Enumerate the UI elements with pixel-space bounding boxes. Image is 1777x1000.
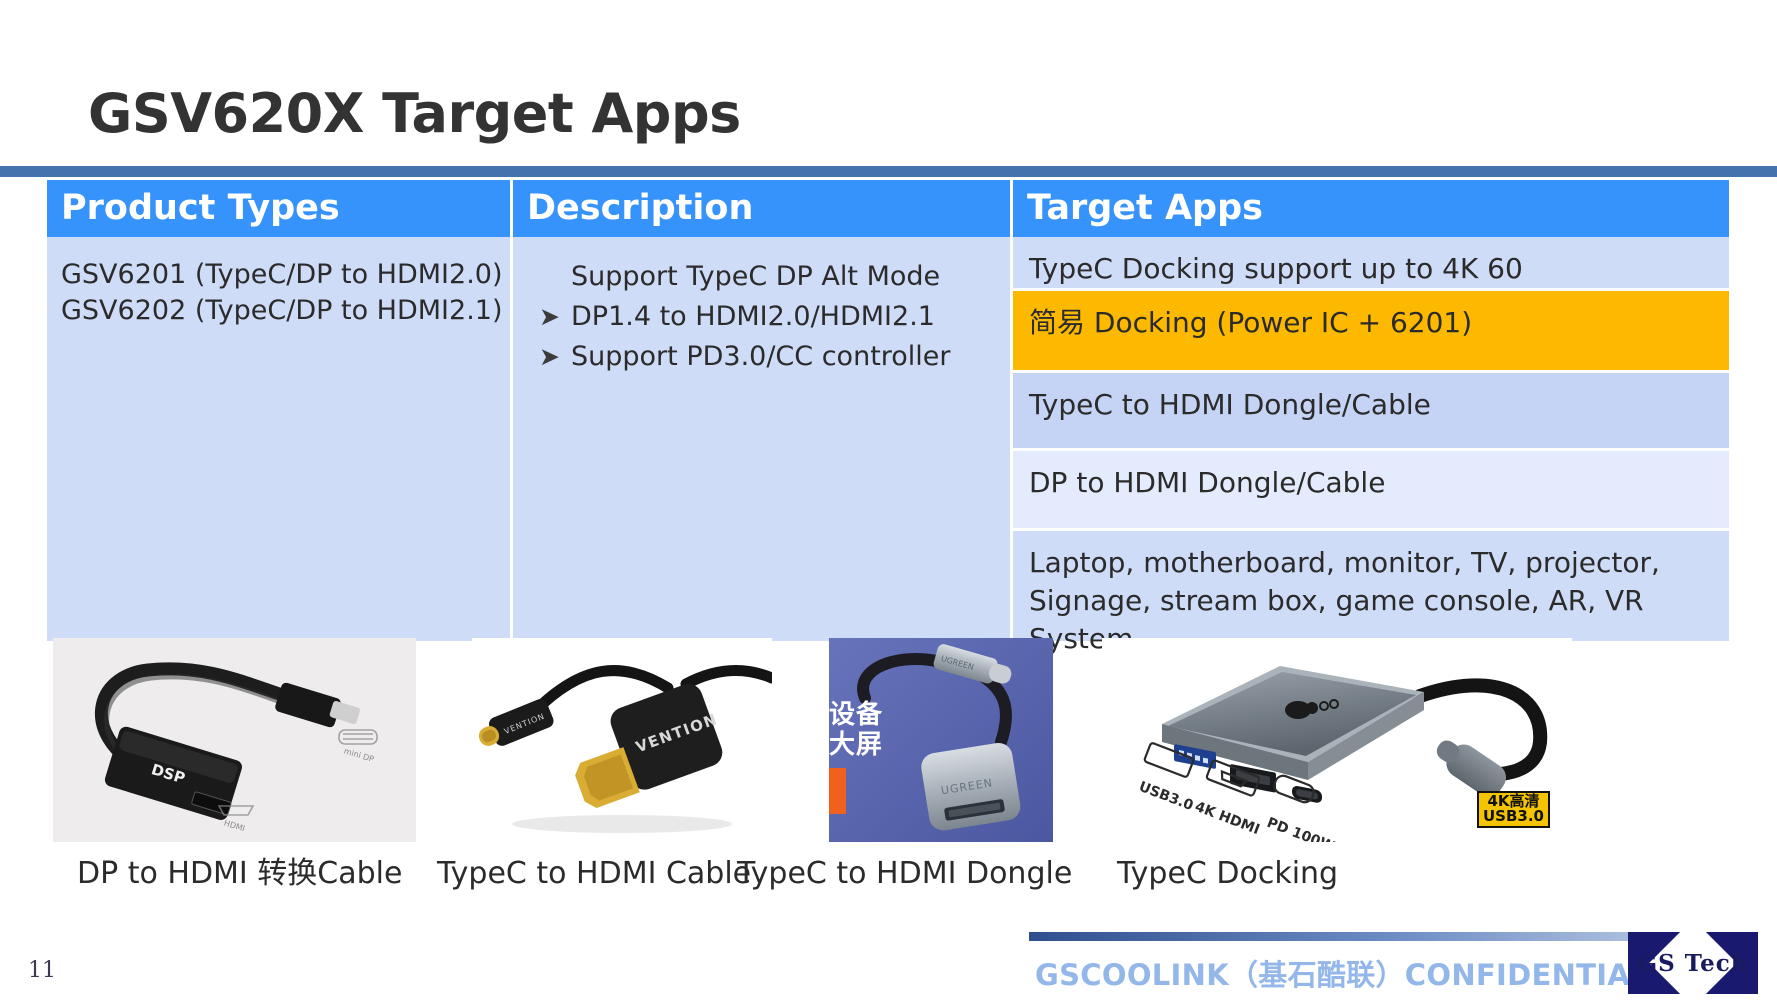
target-app-row: DP to HDMI Dongle/Cable [1013, 451, 1729, 531]
dongle-overlay-tag [829, 768, 846, 814]
arrow-bullet-icon: ➤ [533, 337, 571, 377]
logo-text: GS Tech [1628, 932, 1758, 994]
column-header-product-types: Product Types [47, 180, 513, 237]
target-app-row: TypeC to HDMI Dongle/Cable [1013, 373, 1729, 451]
description-item: ➤ Support PD3.0/CC controller [513, 337, 1010, 377]
column-header-target-apps: Target Apps [1013, 180, 1729, 237]
product-image-typec-docking: USB3.0 4K HDMI PD 100W 4K高清 USB3.0 [1102, 638, 1572, 842]
company-logo: GS Tech [1628, 932, 1758, 994]
description-item-label: Support PD3.0/CC controller [571, 337, 1010, 377]
target-apps-table: Product Types Description Target Apps GS… [47, 180, 1729, 641]
product-caption: TypeC to HDMI Dongle [737, 852, 1072, 896]
cell-target-apps: TypeC Docking support up to 4K 60 简易 Doc… [1013, 237, 1729, 641]
description-list: Support TypeC DP Alt Mode ➤ DP1.4 to HDM… [513, 237, 1010, 377]
product-badge-4k: 4K高清 USB3.0 [1477, 791, 1550, 829]
dongle-overlay-text-line-2: 大屏 [829, 730, 883, 760]
cell-description: Support TypeC DP Alt Mode ➤ DP1.4 to HDM… [513, 237, 1013, 641]
product-image-strip: DSP mini DP HDMI [47, 638, 1729, 842]
product-image-dp-to-hdmi-cable: DSP mini DP HDMI [53, 638, 416, 842]
target-app-row: TypeC Docking support up to 4K 60 [1013, 237, 1729, 291]
target-app-row-highlighted: 简易 Docking (Power IC + 6201) [1013, 291, 1729, 373]
dp-to-hdmi-adapter-illustration: DSP mini DP HDMI [53, 638, 416, 842]
product-caption: DP to HDMI 转换Cable [77, 852, 402, 896]
dongle-overlay-text-line-1: 设备 [829, 700, 883, 730]
product-type-item: GSV6202 (TypeC/DP to HDMI2.1) [47, 293, 510, 329]
badge-line-2: USB3.0 [1483, 809, 1544, 825]
vention-cable-illustration: VENTION VENTION [472, 638, 772, 842]
product-image-typec-to-hdmi-dongle: UGREEN UGREEN 设备 大屏 [829, 638, 1053, 842]
page-number: 11 [28, 958, 56, 983]
slide: GSV620X Target Apps Product Types Descri… [0, 0, 1777, 1000]
target-app-row: Laptop, motherboard, monitor, TV, projec… [1013, 531, 1729, 641]
description-item-label: DP1.4 to HDMI2.0/HDMI2.1 [571, 297, 1010, 337]
product-type-item: GSV6201 (TypeC/DP to HDMI2.0) [47, 237, 510, 293]
table-header-row: Product Types Description Target Apps [47, 180, 1729, 237]
footer-confidential-text: GSCOOLINK（基石酷联）CONFIDENTIAL [1035, 952, 1649, 994]
page-title: GSV620X Target Apps [88, 82, 741, 145]
title-divider [0, 166, 1777, 177]
cell-product-types: GSV6201 (TypeC/DP to HDMI2.0) GSV6202 (T… [47, 237, 513, 641]
description-item: ➤ DP1.4 to HDMI2.0/HDMI2.1 [513, 297, 1010, 337]
column-header-description: Description [513, 180, 1013, 237]
product-caption-row: DP to HDMI 转换Cable TypeC to HDMI Cable T… [47, 852, 1729, 896]
product-caption: TypeC Docking [1117, 852, 1338, 896]
footer-accent-bar [1029, 932, 1689, 941]
arrow-bullet-icon: ➤ [533, 297, 571, 337]
product-caption: TypeC to HDMI Cable [437, 852, 751, 896]
product-image-typec-to-hdmi-cable: VENTION VENTION [472, 638, 772, 842]
description-item-label: Support TypeC DP Alt Mode [571, 257, 1010, 297]
description-item: Support TypeC DP Alt Mode [513, 257, 1010, 297]
table-body: GSV6201 (TypeC/DP to HDMI2.0) GSV6202 (T… [47, 237, 1729, 641]
